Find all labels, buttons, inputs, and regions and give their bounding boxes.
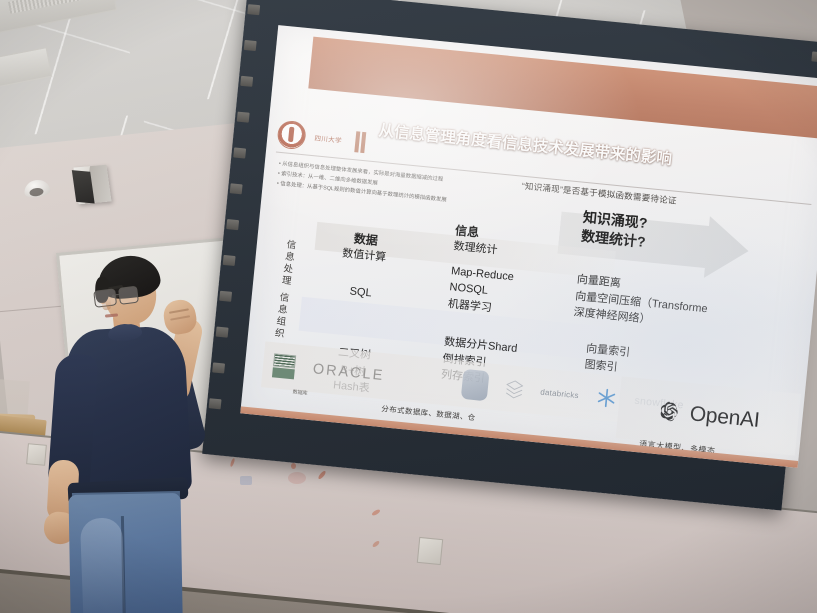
openai-logo-icon: [656, 398, 684, 426]
vertical-axis-label: 信息处理 信息组织: [270, 238, 297, 340]
column-vector: 向量距离 向量空间压缩（Transforme 深度神经网络） 向量索引 图索引: [568, 272, 710, 385]
presenter-jeans-highlight: [80, 517, 126, 613]
column-data-row: SQL: [338, 282, 383, 303]
slide-title: 从信息管理角度看信息技术发展带来的影响: [378, 118, 673, 169]
wall-mark: [288, 472, 306, 484]
emergence-callout: 知识涌现? 数理统计?: [580, 208, 648, 253]
speaker-grille: [72, 170, 95, 203]
oracle-logo: ORACLE: [312, 361, 385, 384]
snowflake-logo-icon: [596, 387, 618, 409]
title-accent-bars: [354, 131, 366, 153]
column-data-subheader: 数值计算: [342, 246, 387, 267]
university-name: 四川大学: [314, 132, 342, 145]
projected-slide: 四川大学 从信息管理角度看信息技术发展带来的影响 • 从信息组织与信息处理整体发…: [240, 25, 817, 468]
openai-label: OpenAI: [689, 402, 761, 433]
projection-screen: 四川大学 从信息管理角度看信息技术发展带来的影响 • 从信息组织与信息处理整体发…: [202, 0, 817, 511]
presenter-nose: [102, 300, 112, 311]
databricks-logo-icon: [505, 379, 524, 400]
databricks-label: databricks: [540, 387, 579, 400]
presenter: [28, 262, 218, 613]
wall-mark: [240, 476, 252, 485]
university-logo-icon: [276, 120, 307, 151]
ibm-db2-logo-icon: [272, 353, 296, 379]
oracle-caption: 数据库: [292, 388, 308, 396]
classroom-photo: 四川大学 从信息管理角度看信息技术发展带来的影响 • 从信息组织与信息处理整体发…: [0, 0, 817, 613]
amazon-redshift-logo-icon: [460, 369, 489, 401]
wall-mark: [291, 463, 296, 469]
wall-speaker: [73, 165, 111, 205]
wall-socket: [417, 537, 443, 565]
